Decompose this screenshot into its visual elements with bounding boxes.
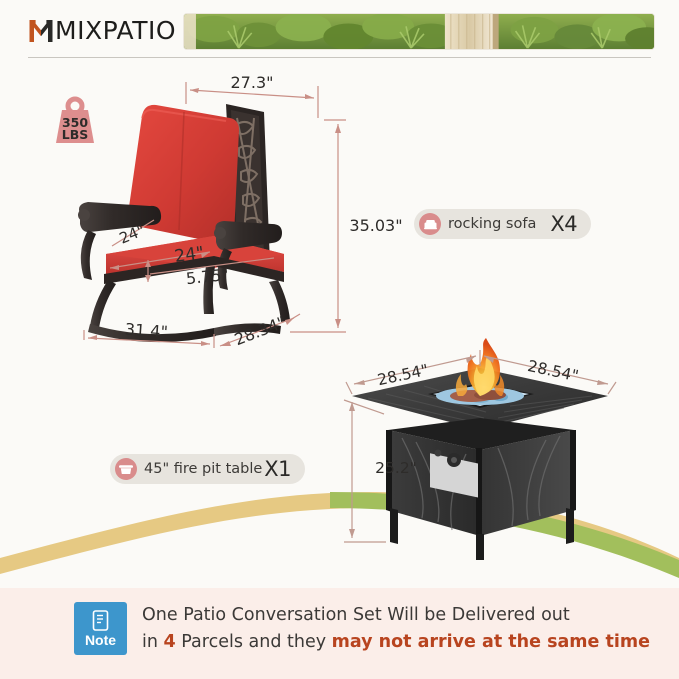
firepit-illustration: 28.54" 28.54" 25.2" (330, 338, 630, 563)
rocking-sofa-qty: X4 (550, 212, 577, 236)
firepit-body (386, 418, 576, 536)
fire-pit-table-label: 45" fire pit table (144, 461, 262, 477)
note-warning: may not arrive at the same time (332, 632, 650, 652)
dim-base-width: 31.4" (124, 320, 168, 342)
rocking-sofa-label: rocking sofa (448, 216, 536, 232)
sofa-icon (419, 213, 441, 235)
flame-icon (456, 338, 504, 396)
infographic-page: MIXPATIO (0, 0, 679, 679)
note-line2-mid: Parcels and they (176, 632, 332, 652)
banner-image (183, 13, 655, 50)
fire-pit-figure: 28.54" 28.54" 25.2" (330, 338, 630, 563)
note-line2-prefix: in (142, 632, 164, 652)
brand-logo: MIXPATIO (28, 16, 176, 45)
dim-chair-height: 35.03" (349, 216, 402, 235)
dim-firepit-height: 25.2" (375, 459, 417, 477)
m-logo-icon (28, 18, 54, 44)
fire-pit-table-qty: X1 (264, 457, 291, 481)
note-line1: One Patio Conversation Set Will be Deliv… (142, 605, 570, 625)
note-text: One Patio Conversation Set Will be Deliv… (142, 602, 662, 656)
dim-chair-width: 27.3" (231, 73, 274, 92)
dim-base-depth: 28.34" (232, 312, 288, 349)
rocking-sofa-pill[interactable]: rocking sofa X4 (414, 209, 591, 239)
dim-seat-width: 24" (173, 243, 205, 267)
chair-illustration: 27.3" 35.03" 24" 24" 5.75" 31.4" 28.34" (38, 68, 408, 358)
table-icon (115, 458, 137, 480)
fire-pit-table-pill[interactable]: 45" fire pit table X1 (110, 454, 305, 484)
foliage-banner-image (184, 14, 654, 49)
note-parcel-count: 4 (164, 632, 176, 652)
header-divider (28, 57, 651, 58)
rocking-sofa-figure: 350 LBS (38, 68, 408, 358)
note-badge: Note (74, 602, 127, 655)
brand-name: MIXPATIO (55, 16, 176, 45)
header: MIXPATIO (0, 0, 679, 62)
document-icon (92, 610, 109, 631)
note-bar: Note One Patio Conversation Set Will be … (0, 588, 679, 679)
note-badge-label: Note (85, 632, 116, 648)
